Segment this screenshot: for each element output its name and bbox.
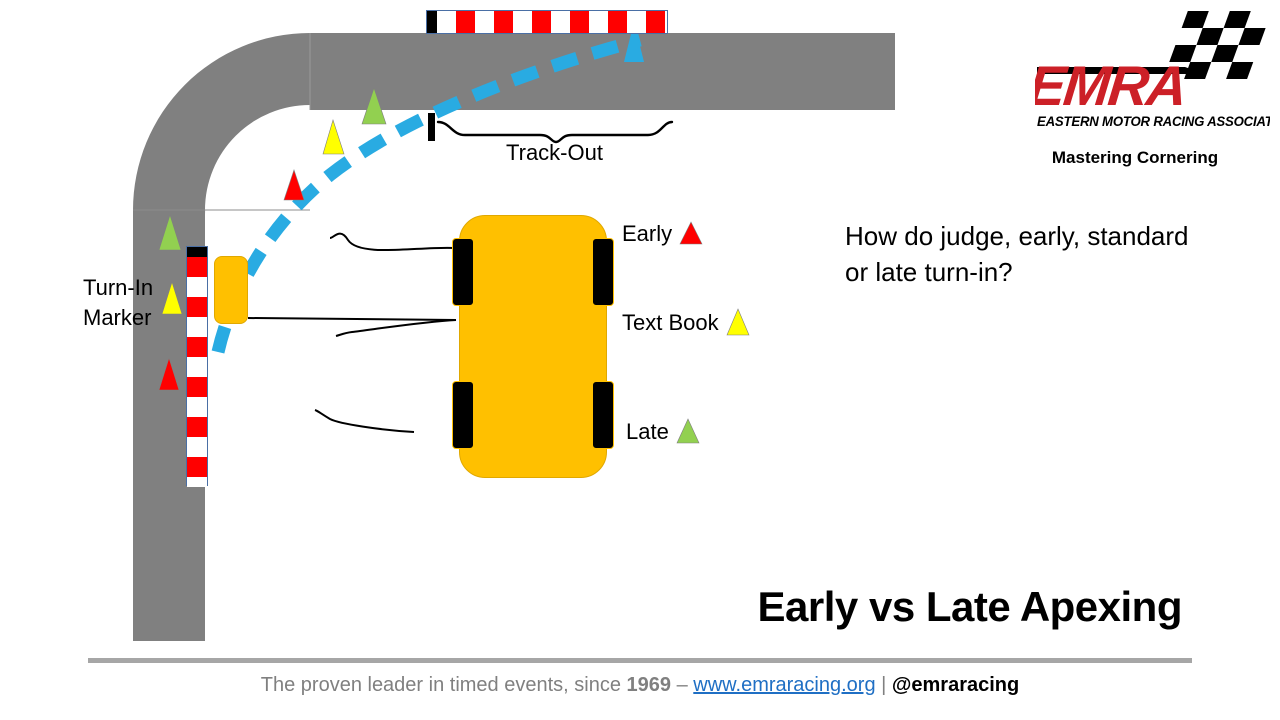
curb-top xyxy=(426,10,668,34)
car-top-view xyxy=(459,215,607,478)
question-text: How do judge, early, standard or late tu… xyxy=(845,218,1195,290)
tire-rear-right xyxy=(592,381,614,449)
logo-tagline: EASTERN MOTOR RACING ASSOCIATION xyxy=(1037,114,1270,130)
footer: The proven leader in timed events, since… xyxy=(0,674,1280,697)
car-on-track-marker xyxy=(214,256,248,324)
tire-front-left xyxy=(452,238,474,306)
footer-dash: – xyxy=(671,674,693,696)
triangle-up-green-icon xyxy=(675,417,701,445)
slide-canvas: Track-Out Turn-In Marker Early Text Book… xyxy=(0,0,1280,720)
legend-item-text-book: Text Book xyxy=(622,307,751,337)
footer-website-link[interactable]: www.emraracing.org xyxy=(693,674,875,696)
curb-seg-black xyxy=(427,11,437,33)
footer-social-handle: @emraracing xyxy=(892,674,1019,696)
tire-rear-left xyxy=(452,381,474,449)
label-turn-in-marker: Turn-In Marker xyxy=(83,273,153,333)
logo-wordmark: EMRA xyxy=(1035,54,1189,117)
legend-label-late: Late xyxy=(626,419,669,444)
label-track-out: Track-Out xyxy=(506,140,603,166)
triangle-up-red-icon xyxy=(678,220,704,246)
legend-label-early: Early xyxy=(622,221,672,246)
triangle-up-yellow-icon xyxy=(725,307,751,337)
curb-turn-in-marker xyxy=(186,246,208,486)
footer-year: 1969 xyxy=(627,674,672,696)
footer-divider xyxy=(88,658,1192,663)
footer-lead: The proven leader in timed events, since xyxy=(261,674,627,696)
footer-separator: | xyxy=(876,674,892,696)
corner-inner-curve xyxy=(205,110,1280,641)
legend-item-early: Early xyxy=(622,220,704,247)
brace-tick-left xyxy=(428,113,435,141)
page-title: Early vs Late Apexing xyxy=(620,583,1182,631)
emra-logo: EMRA EASTERN MOTOR RACING ASSOCIATION xyxy=(1035,5,1270,135)
tire-front-right xyxy=(592,238,614,306)
legend-label-text-book: Text Book xyxy=(622,310,719,335)
label-turn-in-marker-line1: Turn-In xyxy=(83,275,153,300)
legend-item-late: Late xyxy=(626,417,701,445)
slide-subtitle: Mastering Cornering xyxy=(1010,148,1260,168)
curb-seg-black xyxy=(187,247,207,257)
label-turn-in-marker-line2: Marker xyxy=(83,305,151,330)
